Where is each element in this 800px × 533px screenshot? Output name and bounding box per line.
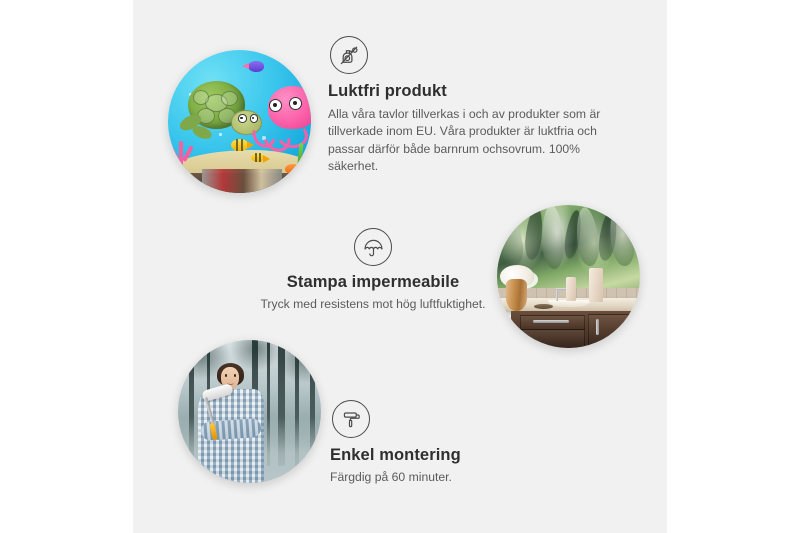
feature-odourless: Luktfri produkt Alla våra tavlor tillver… xyxy=(328,36,628,175)
fish-icon xyxy=(251,153,264,162)
feature-body: Alla våra tavlor tillverkas i och av pro… xyxy=(328,106,628,175)
screenshot-stage: Luktfri produkt Alla våra tavlor tillver… xyxy=(0,0,800,533)
cabinet-handle xyxy=(596,319,599,335)
woman-eye xyxy=(234,374,236,376)
woman-paint-roller-forest-thumbnail[interactable] xyxy=(178,340,321,483)
content-panel: Luktfri produkt Alla våra tavlor tillver… xyxy=(133,0,667,533)
faucet-icon xyxy=(556,288,559,301)
underwater-kids-mural-thumbnail[interactable] xyxy=(168,50,311,193)
mural-foreground-strip xyxy=(202,169,282,193)
coral-icon xyxy=(179,141,183,167)
wood-vanity xyxy=(511,311,640,348)
turtle-eye xyxy=(238,114,247,123)
lotion-bottle xyxy=(589,268,603,302)
feature-title: Enkel montering xyxy=(330,446,610,465)
painter-scene xyxy=(178,340,321,483)
octopus-eye xyxy=(269,99,282,112)
feature-easy-install: Enkel montering Färgdig på 60 minuter. xyxy=(330,400,610,486)
feature-body: Tryck med resistens mot hög luftfuktighe… xyxy=(213,296,533,313)
feature-title: Luktfri produkt xyxy=(328,82,628,101)
no-fragrance-spray-icon xyxy=(330,36,368,74)
soap-bottle xyxy=(566,277,576,301)
soap-dish xyxy=(534,304,553,309)
feature-title: Stampa impermeabile xyxy=(213,273,533,292)
feature-body: Färgdig på 60 minuter. xyxy=(330,469,610,486)
turtle-eye xyxy=(250,114,259,123)
umbrella-icon xyxy=(354,228,392,266)
fish-icon xyxy=(231,139,248,151)
underwater-scene xyxy=(168,50,311,193)
feature-waterproof: Stampa impermeabile Tryck med resistens … xyxy=(213,228,533,313)
paint-roller-icon xyxy=(332,400,370,438)
